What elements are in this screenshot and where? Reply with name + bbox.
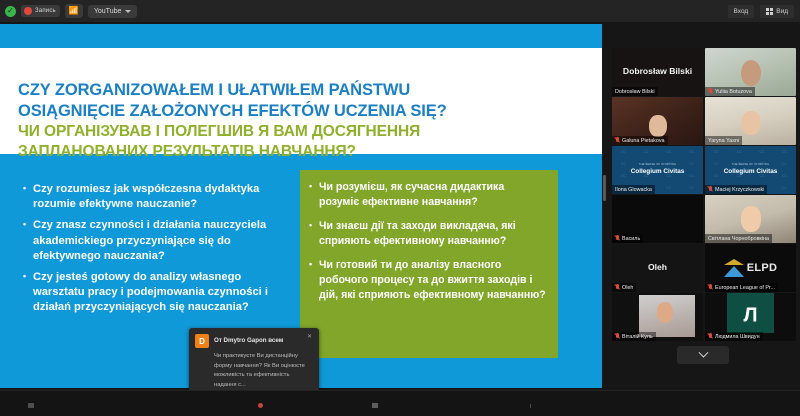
participant-namebar: Yaryna Yasni (705, 136, 742, 145)
slide-title-line-1: CZY ZORGANIZOWAŁEM I UŁATWIŁEM PAŃSTWU (18, 80, 593, 101)
participant-name: Galuna Pietakova (622, 138, 665, 144)
streaming-chip[interactable]: YouTube (88, 5, 138, 18)
top-toolbar-left: ✓ Запись 📶 YouTube (0, 4, 137, 18)
chat-sender: От Dmytro Gapon всем (214, 334, 283, 344)
elpd-mark-icon (724, 258, 744, 278)
list-item: Czy jesteś gotowy do analizy własnego wa… (22, 270, 274, 316)
slide-title: CZY ZORGANIZOWAŁEM I UŁATWIŁEM PAŃSTWU O… (18, 80, 593, 162)
scroll-down-button[interactable] (677, 346, 729, 364)
slide-bullets-ukrainian: Чи розумієш, як сучасна дидактика розумі… (300, 170, 558, 358)
avatar: D (195, 334, 209, 348)
list-item: Czy rozumiesz jak współczesna dydaktyka … (22, 182, 274, 212)
participant-big-name: Dobrosław Bilski (612, 66, 703, 76)
participant-tile[interactable]: ELPD European League of Pr... (705, 244, 796, 292)
slide-title-line-2: OSIĄGNIĘCIE ZAŁOŻONYCH EFEKTÓW UCZENIA S… (18, 101, 593, 122)
recording-indicator[interactable]: Запись (21, 5, 60, 17)
participant-tile[interactable]: Л Людмила Швидун (705, 293, 796, 341)
participant-name: Людмила Швидун (715, 334, 760, 340)
participant-name: Yuliia Botuzova (715, 89, 752, 95)
participant-panel: Dobrosław Bilski Dobrosław Bilski Yuliia… (606, 24, 800, 392)
list-item: Чи готовий ти до аналізу власного робочо… (308, 258, 546, 303)
grid-view-icon (766, 8, 773, 15)
slide-title-line-4: ЗАПЛАНОВАНИХ РЕЗУЛЬТАТІВ НАВЧАННЯ? (18, 142, 593, 162)
face-shape (741, 206, 761, 232)
participant-namebar: Людмила Швидун (705, 332, 763, 341)
muted-mic-icon (615, 137, 620, 144)
chat-notification-toast[interactable]: D От Dmytro Gapon всем ✕ Чи практикуєте … (189, 328, 319, 397)
list-item: Czy znasz czynności i działania nauczyci… (22, 218, 274, 264)
participant-namebar: Ilona Glowacka (612, 185, 655, 194)
participant-tile[interactable]: Yuliia Botuzova (705, 48, 796, 96)
chat-toast-header: D От Dmytro Gapon всем ✕ (195, 334, 312, 348)
participant-namebar: European League of Pr... (705, 283, 778, 292)
face-shape (657, 302, 673, 323)
participant-namebar: Віталій Куль (612, 332, 656, 341)
civitas-tagline: THE SENSE OF STUDYING (705, 163, 796, 166)
participant-namebar: Galuna Pietakova (612, 136, 668, 145)
meeting-window: ✓ Запись 📶 YouTube Вход Вид CZY ZORGA (0, 0, 800, 416)
list-item: Чи розумієш, як сучасна дидактика розумі… (308, 180, 546, 210)
participant-name: Maciej Krzyczkowski (715, 187, 764, 193)
participant-tile[interactable]: Dobrosław Bilski Dobrosław Bilski (612, 48, 703, 96)
chat-message: Чи практикуєте Ви дистанційну форму навч… (195, 348, 312, 390)
chevron-down-icon (125, 10, 131, 13)
close-icon[interactable]: ✕ (307, 334, 312, 340)
top-toolbar: ✓ Запись 📶 YouTube Вход Вид (0, 0, 800, 22)
participant-tile[interactable]: Світлана Чорнобровкіна (705, 195, 796, 243)
participant-name: Світлана Чорнобровкіна (708, 236, 769, 242)
participant-name: Віталій Куль (622, 334, 653, 340)
shield-check-icon[interactable]: ✓ (5, 6, 16, 17)
list-item: Чи знаєш дії та заходи викладача, які сп… (308, 219, 546, 249)
participant-namebar: Oleh (612, 283, 636, 292)
recording-label: Запись (35, 8, 56, 14)
civitas-brand: Collegium Civitas (612, 168, 703, 175)
participant-tile[interactable]: Василь (612, 195, 703, 243)
more-options-icon[interactable] (530, 404, 531, 408)
participant-name: European League of Pr... (715, 285, 775, 291)
participant-tile[interactable]: CCCCCCCCCCCCCCCC CCCCCCCCCCCCCCCC THE SE… (612, 146, 703, 194)
face-shape (649, 115, 667, 137)
participant-tile[interactable]: Віталій Куль (612, 293, 703, 341)
avatar-initial: Л (705, 304, 796, 327)
signal-icon[interactable]: 📶 (65, 4, 83, 18)
participant-namebar: Василь (612, 234, 643, 243)
participant-name: Yaryna Yasni (708, 138, 739, 144)
login-button-label: Вход (734, 8, 749, 15)
face-shape (741, 60, 761, 86)
mic-icon[interactable] (28, 403, 34, 408)
participant-name: Oleh (622, 285, 633, 291)
record-indicator-icon[interactable] (258, 403, 263, 408)
muted-mic-icon (708, 284, 713, 291)
view-button-label: Вид (776, 8, 788, 15)
muted-mic-icon (708, 88, 713, 95)
record-dot-icon (24, 7, 32, 15)
slide-title-line-3: ЧИ ОРГАНІЗУВАВ І ПОЛЕГШИВ Я ВАМ ДОСЯГНЕН… (18, 122, 593, 142)
share-screen-icon[interactable] (372, 403, 378, 408)
chevron-down-icon (698, 347, 708, 357)
streaming-label: YouTube (94, 8, 122, 15)
elpd-brand: ELPD (747, 262, 778, 274)
participant-namebar: Maciej Krzyczkowski (705, 185, 767, 194)
muted-mic-icon (615, 284, 620, 291)
civitas-brand: Collegium Civitas (705, 168, 796, 175)
face-shape (741, 111, 760, 135)
participant-namebar: Yuliia Botuzova (705, 87, 755, 96)
bottom-toolbar[interactable] (0, 390, 800, 416)
muted-mic-icon (615, 333, 620, 340)
participant-tile[interactable]: Galuna Pietakova (612, 97, 703, 145)
login-button[interactable]: Вход (728, 5, 755, 18)
muted-mic-icon (708, 333, 713, 340)
participant-name: Василь (622, 236, 640, 242)
participant-namebar: Світлана Чорнобровкіна (705, 234, 772, 243)
view-button[interactable]: Вид (760, 5, 794, 18)
muted-mic-icon (615, 235, 620, 242)
participant-big-name: Oleh (612, 262, 703, 272)
participant-name: Ilona Glowacka (615, 187, 652, 193)
civitas-tagline: THE SENSE OF STUDYING (612, 163, 703, 166)
participant-tile[interactable]: CCCCCCCCCCCCCCCC CCCCCCCCCCCCCCCC THE SE… (705, 146, 796, 194)
participant-tile[interactable]: Yaryna Yasni (705, 97, 796, 145)
top-toolbar-right: Вход Вид (728, 5, 800, 18)
participant-tile[interactable]: Oleh Oleh (612, 244, 703, 292)
participant-name: Dobrosław Bilski (615, 89, 655, 95)
muted-mic-icon (708, 186, 713, 193)
participant-namebar: Dobrosław Bilski (612, 87, 658, 96)
